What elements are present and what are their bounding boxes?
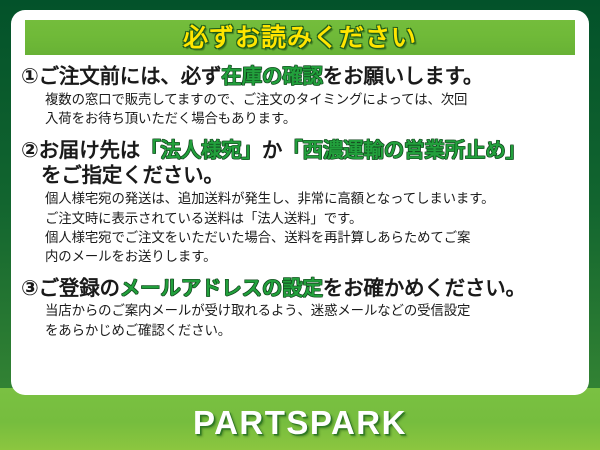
section-1-heading-part-1: ご注文前には、必ず <box>39 64 222 88</box>
section-3-body-line-2: をあらかじめご確認ください。 <box>45 322 579 341</box>
section-2-body-line-4: 内のメールをお送りします。 <box>45 248 579 267</box>
notice-section-1: ①ご注文前には、必ず在庫の確認をお願いします。 複数の窓口で販売してますので、ご… <box>21 64 579 129</box>
section-3-body: 当店からのご案内メールが受け取れるよう、迷惑メールなどの受信設定 をあらかじめご… <box>21 302 579 341</box>
notice-section-3: ③ご登録のメールアドレスの設定をお確かめください。 当店からのご案内メールが受け… <box>21 276 579 341</box>
notice-content: ①ご注文前には、必ず在庫の確認をお願いします。 複数の窓口で販売してますので、ご… <box>11 55 589 341</box>
section-3-body-line-1: 当店からのご案内メールが受け取れるよう、迷惑メールなどの受信設定 <box>45 302 579 321</box>
section-2-heading: ②お届け先は「法人様宛」か「西濃運輸の営業所止め」 <box>21 138 579 163</box>
section-2-heading-part-1: お届け先は <box>39 138 141 162</box>
notice-section-2: ②お届け先は「法人様宛」か「西濃運輸の営業所止め」 をご指定ください。 個人様宅… <box>21 138 579 267</box>
section-2-heading-highlight-1: 「法人様宛」 <box>140 138 262 162</box>
header-bar: 必ずお読みください <box>25 20 575 55</box>
section-2-heading-line-2: をご指定ください。 <box>21 163 579 187</box>
section-3-heading-part-2: をお確かめください。 <box>323 276 526 300</box>
brand-logo: PARTSPARK <box>0 404 600 442</box>
section-2-heading-part-2: か <box>262 138 282 162</box>
section-2-body-line-1: 個人様宅宛の発送は、追加送料が発生し、非常に高額となってしまいます。 <box>45 190 579 209</box>
section-1-body: 複数の窓口で販売してますので、ご注文のタイミングによっては、次回 入荷をお待ち頂… <box>21 91 579 130</box>
section-3-heading: ③ご登録のメールアドレスの設定をお確かめください。 <box>21 276 579 301</box>
section-1-body-line-1: 複数の窓口で販売してますので、ご注文のタイミングによっては、次回 <box>45 91 579 110</box>
section-2-body: 個人様宅宛の発送は、追加送料が発生し、非常に高額となってしまいます。 ご注文時に… <box>21 190 579 267</box>
section-2-body-line-2: ご注文時に表示されている送料は「法人送料」です。 <box>45 210 579 229</box>
section-1-heading-highlight: 在庫の確認 <box>221 64 323 88</box>
section-1-body-line-2: 入荷をお待ち頂いただく場合もあります。 <box>45 110 579 129</box>
notice-banner: 必ずお読みください ①ご注文前には、必ず在庫の確認をお願いします。 複数の窓口で… <box>0 0 600 450</box>
section-2-number: ② <box>21 138 39 162</box>
page-title: 必ずお読みください <box>183 25 417 50</box>
section-1-heading: ①ご注文前には、必ず在庫の確認をお願いします。 <box>21 64 579 89</box>
section-1-number: ① <box>21 64 39 88</box>
section-3-heading-part-1: ご登録の <box>39 276 120 300</box>
section-1-heading-part-2: をお願いします。 <box>323 64 483 88</box>
section-2-body-line-3: 個人様宅宛でご注文をいただいた場合、送料を再計算しあらためてご案 <box>45 229 579 248</box>
section-2-heading-highlight-2: 「西濃運輸の営業所止め」 <box>282 138 526 162</box>
section-3-heading-highlight: メールアドレスの設定 <box>120 276 323 300</box>
section-3-number: ③ <box>21 276 39 300</box>
notice-card: 必ずお読みください ①ご注文前には、必ず在庫の確認をお願いします。 複数の窓口で… <box>11 10 589 395</box>
